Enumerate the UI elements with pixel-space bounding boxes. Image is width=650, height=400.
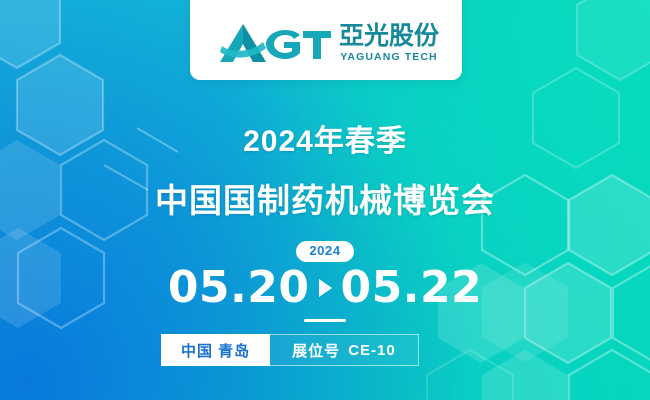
- event-info-bar: 中国 青岛 展位号 CE-10: [161, 334, 419, 366]
- event-year-badge: 2024: [296, 241, 353, 262]
- company-name-block: 亞光股份 YAGUANG TECH: [339, 24, 439, 63]
- event-title-line-2: 中国国制药机械博览会: [0, 174, 650, 222]
- venue-label: 中国 青岛: [161, 334, 270, 366]
- event-date-block: 2024 05.20 05.22: [0, 241, 650, 322]
- booth-info: 展位号 CE-10: [270, 334, 419, 366]
- right-triangle-arrow-icon: [319, 279, 332, 297]
- logo-lockup: 亞光股份 YAGUANG TECH: [213, 22, 439, 64]
- event-date-range: 05.20 05.22: [0, 266, 650, 310]
- agt-logo-icon: [213, 22, 331, 64]
- event-date-start: 05.20: [168, 266, 310, 310]
- company-name-en: YAGUANG TECH: [340, 52, 437, 63]
- event-title-block: 2024年春季 中国国制药机械博览会: [0, 116, 650, 222]
- event-title-line-1: 2024年春季: [0, 116, 650, 160]
- booth-number: CE-10: [348, 342, 396, 359]
- company-logo-card: 亞光股份 YAGUANG TECH: [190, 0, 462, 80]
- booth-label: 展位号: [292, 340, 340, 361]
- exhibition-banner: 亞光股份 YAGUANG TECH 2024年春季 中国国制药机械博览会 202…: [0, 0, 650, 400]
- date-divider: [304, 319, 346, 322]
- event-date-end: 05.22: [341, 266, 483, 310]
- hexagon-filled: [577, 0, 650, 80]
- company-name-cn: 亞光股份: [339, 24, 439, 49]
